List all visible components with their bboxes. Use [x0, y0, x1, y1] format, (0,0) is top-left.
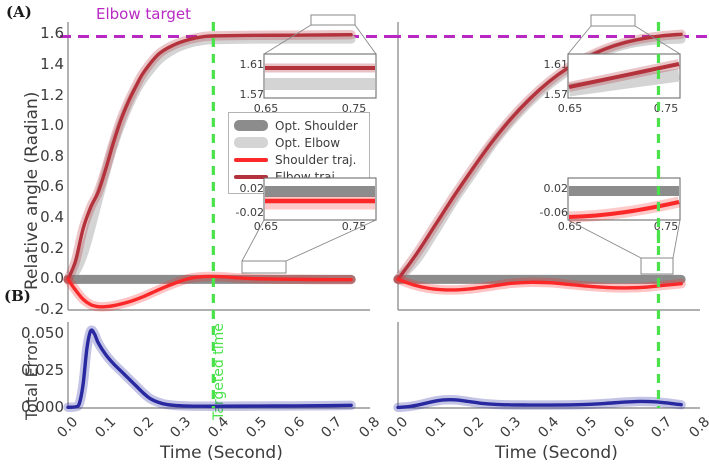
panel-a-ytick-5: 0.6 [24, 177, 64, 195]
panel-b-ytick-1: 0.025 [8, 361, 64, 379]
panel-b-ytick-0: 0.050 [8, 324, 64, 342]
plot-canvas [0, 0, 709, 466]
figure-root: (A) (B) Relative angle (Radian) Total Er… [0, 0, 709, 466]
panel-a-ytick-6: 0.4 [24, 208, 64, 226]
panel-a-ytick-1: 1.4 [24, 55, 64, 73]
panel-a-ytick-2: 1.2 [24, 86, 64, 104]
panel-a-ytick-8: 0.0 [24, 269, 64, 287]
panel-a-ytick-0: 1.6 [24, 24, 64, 42]
panel-a-ytick-3: 1.0 [24, 116, 64, 134]
panel-a-ytick-4: 0.8 [24, 147, 64, 165]
panel-a-ytick-9: -0.2 [24, 300, 64, 318]
panel-b-ytick-2: 0.000 [8, 398, 64, 416]
panel-a-ytick-7: 0.2 [24, 239, 64, 257]
